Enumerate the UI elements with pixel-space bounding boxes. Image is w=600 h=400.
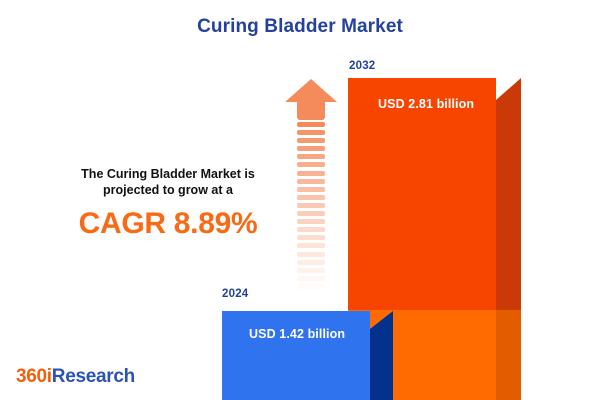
statement-line-2: projected to grow at a [52, 182, 284, 198]
infographic-canvas: Curing Bladder Market 2032 2024 USD 2.81… [0, 0, 600, 400]
bar-2032-value-label: USD 2.81 billion [378, 97, 474, 111]
logo-prefix: 360i [16, 366, 52, 387]
cagr-statement: The Curing Bladder Market is projected t… [52, 166, 284, 241]
brand-logo: 360iResearch [16, 366, 135, 388]
bar-2024-value-label: USD 1.42 billion [249, 327, 345, 341]
statement-line-1: The Curing Bladder Market is [52, 166, 284, 182]
bar-2032-side-face-lower [496, 310, 521, 400]
bar-2032-year-label: 2032 [349, 60, 375, 72]
bar-2024-year-label: 2024 [222, 288, 248, 300]
bar-2024-front-face [222, 311, 370, 400]
logo-suffix: Research [52, 366, 135, 387]
cagr-value: CAGR 8.89% [52, 207, 284, 241]
